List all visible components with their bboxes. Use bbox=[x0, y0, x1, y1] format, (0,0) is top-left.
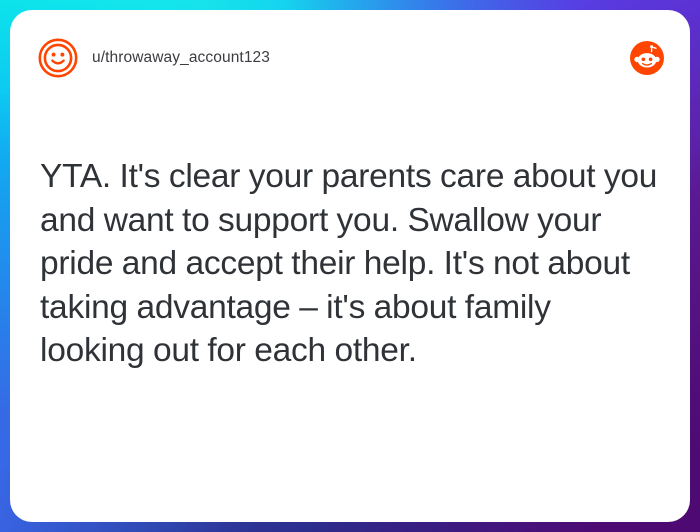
username-label: u/throwaway_account123 bbox=[92, 49, 270, 67]
avatar[interactable] bbox=[38, 38, 78, 78]
post-text: YTA. It's clear your parents care about … bbox=[40, 155, 658, 373]
post-body: YTA. It's clear your parents care about … bbox=[40, 155, 658, 373]
card-header: u/throwaway_account123 bbox=[10, 10, 690, 106]
reddit-snoo-icon[interactable] bbox=[630, 41, 664, 75]
reddit-comment-card: u/throwaway_account123 YTA. It' bbox=[10, 10, 690, 522]
